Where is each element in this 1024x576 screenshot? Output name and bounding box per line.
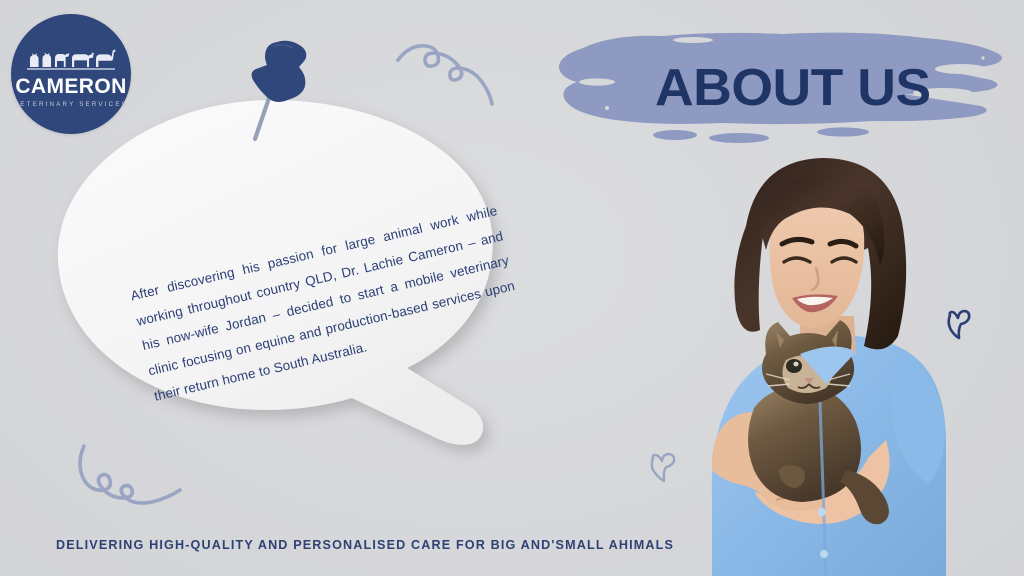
page-title: ABOUT US [655,62,931,114]
vet-with-kitten-illustration [650,140,1022,576]
push-pin-shape [233,36,329,146]
speech-bubble: After discovering his passion for large … [52,92,552,472]
swirl-flourish-bottom-left-icon [72,440,184,520]
slide-canvas: CAMERON VETERINARY SERVICES [0,0,1024,576]
push-pin-icon [233,36,329,146]
animal-silhouettes-icon [25,41,117,75]
swirl-top-shape [392,32,512,110]
swirl-bottom-shape [72,440,184,520]
swirl-flourish-top-right-icon [392,32,512,110]
footer-tagline: DELIVERING HIGH-QUALITY AND PERSONALISED… [56,538,674,552]
vet-with-kitten-photo [650,140,1022,576]
